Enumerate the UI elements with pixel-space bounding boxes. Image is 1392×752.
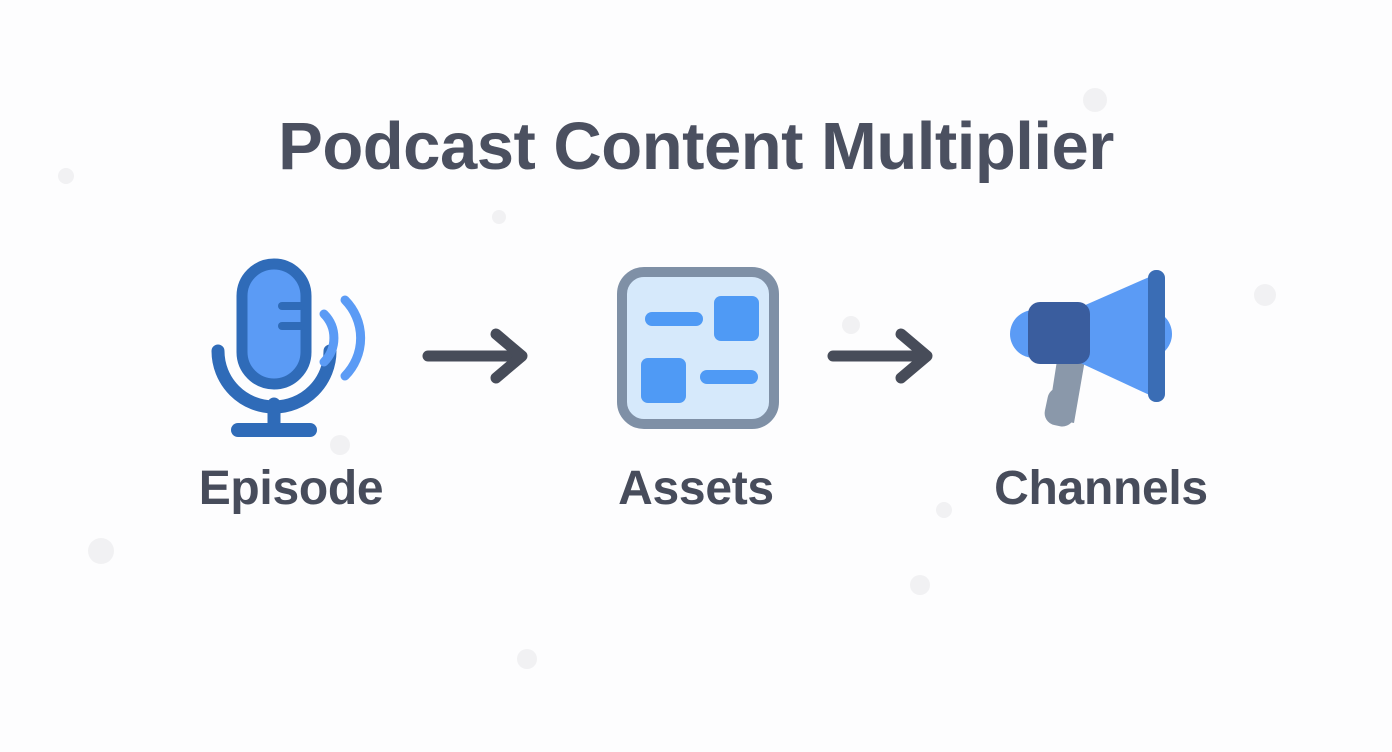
- flow-step-label-episode: Episode: [199, 465, 384, 513]
- asset-grid-icon: [601, 258, 791, 443]
- page-title: Podcast Content Multiplier: [0, 108, 1392, 185]
- decorative-dot: [910, 575, 930, 595]
- flow-step-assets[interactable]: Assets: [571, 258, 821, 513]
- arrow-right-icon: [827, 326, 947, 386]
- flow-step-episode[interactable]: Episode: [166, 258, 416, 513]
- flow-step-label-channels: Channels: [994, 465, 1208, 513]
- flow-connector-2: [821, 258, 976, 443]
- slide-canvas: Podcast Content Multiplier: [0, 0, 1392, 752]
- flow-step-channels[interactable]: Channels: [976, 258, 1226, 513]
- flow-connector-1: [416, 258, 571, 443]
- decorative-dot: [517, 649, 537, 669]
- flow-diagram: Episode Assets: [0, 258, 1392, 548]
- megaphone-icon: [1006, 258, 1196, 443]
- flow-step-label-assets: Assets: [618, 465, 774, 513]
- arrow-right-icon: [422, 326, 542, 386]
- microphone-icon: [196, 258, 386, 443]
- decorative-dot: [492, 210, 506, 224]
